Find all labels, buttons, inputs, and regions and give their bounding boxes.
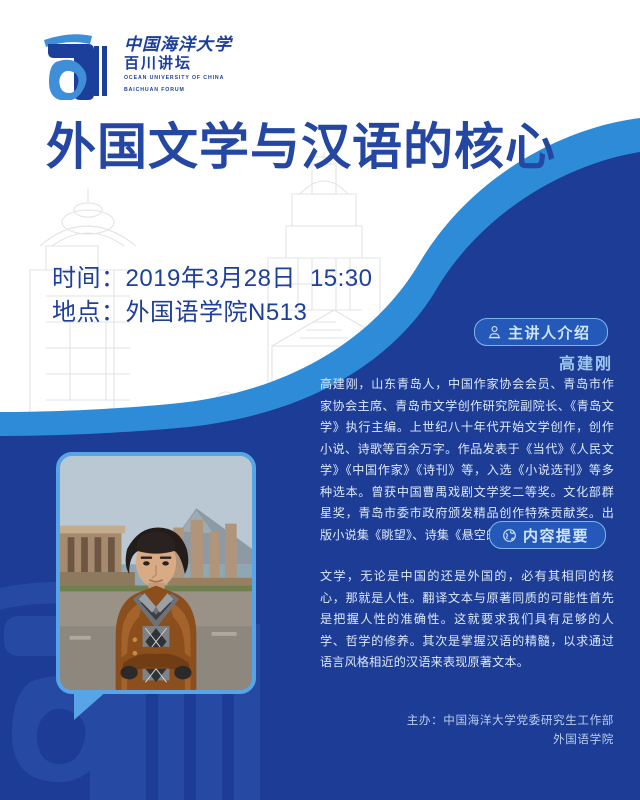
logo-university-name-en: OCEAN UNIVERSITY OF CHINA [124,75,232,83]
baichuan-forum-logo: 中国海洋大学 百川讲坛 OCEAN UNIVERSITY OF CHINA BA… [36,28,286,102]
portrait-photo [60,456,252,690]
portrait-frame [56,452,256,694]
logo-text-block: 中国海洋大学 百川讲坛 OCEAN UNIVERSITY OF CHINA BA… [124,36,232,95]
speaker-portrait [56,452,256,694]
poster-root: 中国海洋大学 百川讲坛 OCEAN UNIVERSITY OF CHINA BA… [0,0,640,800]
event-place-line: 地点：外国语学院N513 [52,296,373,330]
logo-mark-icon [36,30,114,100]
event-time-line: 时间：2019年3月28日15:30 [52,262,373,296]
speaker-section-pill: 主讲人介绍 [474,318,608,346]
speaker-name: 高建刚 [0,350,613,374]
globe-idea-icon [502,528,517,543]
footer-line-1: 主办：中国海洋大学党委研究生工作部 [0,712,614,731]
abstract-pill-label: 内容提要 [523,525,589,546]
place-label: 地点： [52,299,126,326]
logo-university-name-cn: 中国海洋大学 [124,36,232,53]
footer-organizers: 主办：中国海洋大学党委研究生工作部 外国语学院 [0,712,614,750]
abstract-section-pill: 内容提要 [489,521,606,549]
time-date: 2019年3月28日 [126,265,296,292]
event-info: 时间：2019年3月28日15:30 地点：外国语学院N513 [52,262,373,330]
poster-title: 外国文学与汉语的核心 [46,122,556,172]
speaker-person-icon [487,325,502,340]
logo-forum-name-cn: 百川讲坛 [124,56,232,71]
speaker-pill-label: 主讲人介绍 [508,322,591,343]
footer-line-2: 外国语学院 [0,731,614,750]
logo-forum-name-en: BAICHUAN FORUM [124,87,232,95]
place-value: 外国语学院N513 [126,299,308,326]
abstract-text: 文学，无论是中国的还是外国的，必有其相同的核心，那就是人性。翻译文本与原著同质的… [320,566,614,674]
time-clock: 15:30 [310,265,373,292]
time-label: 时间： [52,265,126,292]
